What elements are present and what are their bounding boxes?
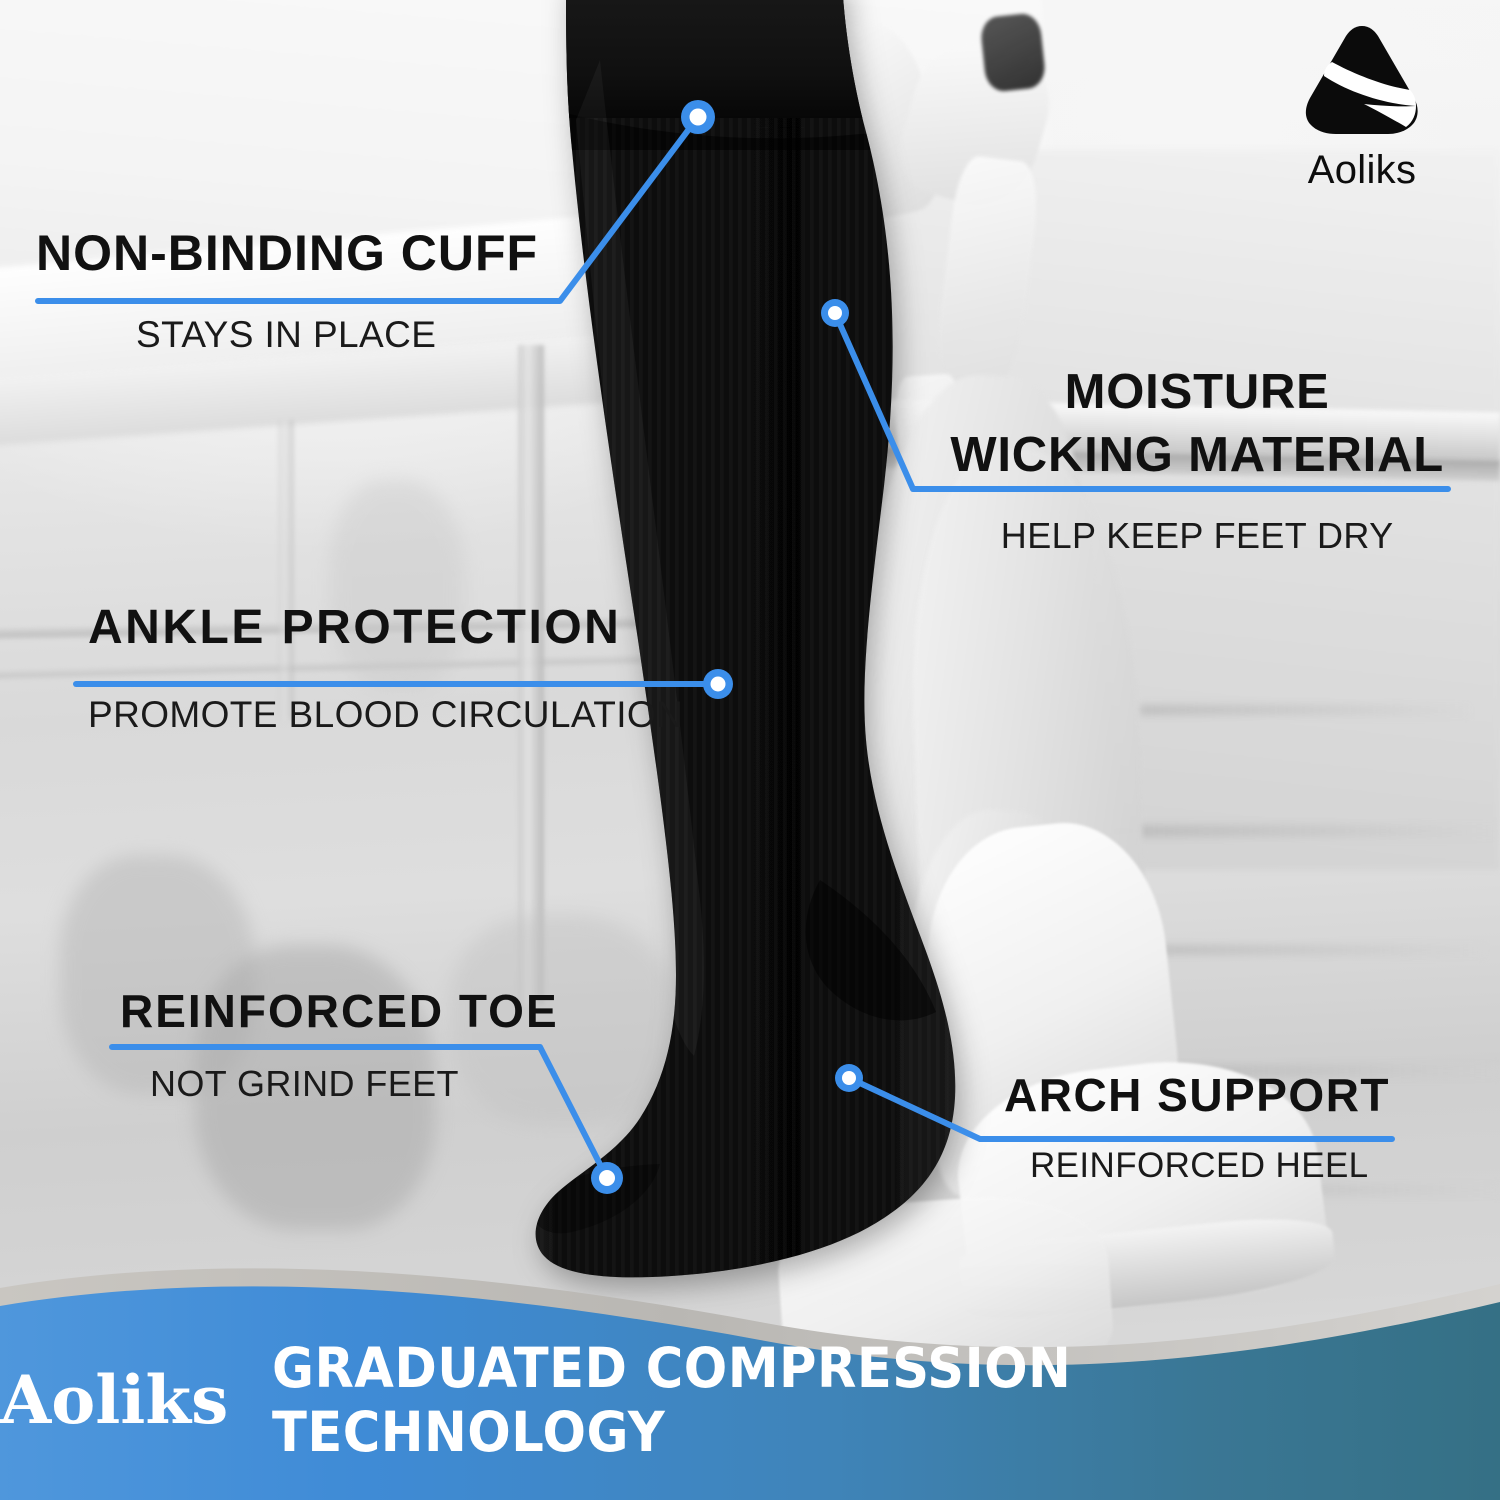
callout-reinforced-toe: REINFORCED TOE NOT GRIND FEET bbox=[120, 988, 559, 1102]
background-floorboard-2 bbox=[1110, 825, 1500, 837]
callout-subtitle-arch-support: REINFORCED HEEL bbox=[1030, 1148, 1390, 1183]
banner-text-row: Aoliks GRADUATED COMPRESSION TECHNOLOGY bbox=[0, 1300, 1500, 1500]
callout-title-ankle-protection: ANKLE PROTECTION bbox=[88, 604, 683, 652]
callout-title-moisture-line1: MOISTURE bbox=[950, 368, 1444, 417]
callout-title-arch-support: ARCH SUPPORT bbox=[1004, 1072, 1390, 1118]
background-glove-dark-accent bbox=[979, 12, 1047, 93]
callout-subtitle-ankle-protection: PROMOTE BLOOD CIRCULATION bbox=[88, 696, 683, 733]
bottom-banner: Aoliks GRADUATED COMPRESSION TECHNOLOGY bbox=[0, 1210, 1500, 1500]
callout-title-non-binding-cuff: NON-BINDING CUFF bbox=[36, 228, 538, 278]
banner-brand: Aoliks bbox=[0, 1361, 228, 1439]
callout-title-moisture-line2: WICKING MATERIAL bbox=[950, 431, 1444, 480]
callout-arch-support: ARCH SUPPORT REINFORCED HEEL bbox=[1004, 1072, 1390, 1183]
callout-non-binding-cuff: NON-BINDING CUFF STAYS IN PLACE bbox=[36, 228, 538, 353]
banner-tagline: GRADUATED COMPRESSION TECHNOLOGY bbox=[272, 1336, 1414, 1464]
callout-subtitle-non-binding-cuff: STAYS IN PLACE bbox=[136, 316, 538, 353]
callout-moisture-wicking-material: MOISTURE WICKING MATERIAL HELP KEEP FEET… bbox=[950, 368, 1444, 554]
callout-subtitle-reinforced-toe: NOT GRIND FEET bbox=[150, 1066, 559, 1102]
brand-logo-wordmark: Aoliks bbox=[1282, 148, 1442, 193]
infographic-canvas: NON-BINDING CUFF STAYS IN PLACE MOISTURE… bbox=[0, 0, 1500, 1500]
aoliks-triangle-swoosh-icon bbox=[1298, 18, 1426, 146]
brand-logo: Aoliks bbox=[1282, 18, 1442, 193]
callout-subtitle-moisture-wicking: HELP KEEP FEET DRY bbox=[950, 518, 1444, 554]
callout-ankle-protection: ANKLE PROTECTION PROMOTE BLOOD CIRCULATI… bbox=[88, 604, 683, 733]
background-floorboard-1 bbox=[1140, 705, 1470, 715]
background-floorboard-3 bbox=[1125, 945, 1485, 955]
callout-title-reinforced-toe: REINFORCED TOE bbox=[120, 988, 559, 1034]
